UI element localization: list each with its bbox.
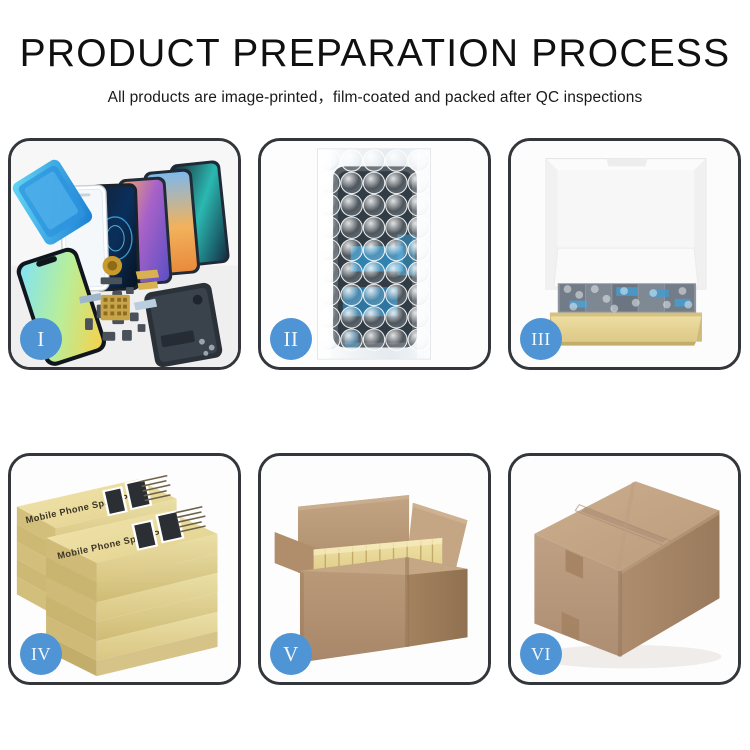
header: PRODUCT PREPARATION PROCESS All products… bbox=[0, 0, 750, 107]
product-preparation-infographic: PRODUCT PREPARATION PROCESS All products… bbox=[0, 0, 750, 750]
step-panel-5: V bbox=[258, 453, 491, 685]
step-badge-1: I bbox=[20, 318, 62, 360]
step-badge-2: II bbox=[270, 318, 312, 360]
step-badge-6: VI bbox=[520, 633, 562, 675]
page-subtitle: All products are image-printed，film-coat… bbox=[0, 85, 750, 107]
step-badge-3: III bbox=[520, 318, 562, 360]
step-badge-5: V bbox=[270, 633, 312, 675]
steps-grid: I bbox=[8, 138, 742, 685]
step-panel-3: III bbox=[508, 138, 741, 370]
step-panel-4: Mobile Phone Spare Parts bbox=[8, 453, 241, 685]
step-panel-6: VI bbox=[508, 453, 741, 685]
step-panel-2: II bbox=[258, 138, 491, 370]
page-title: PRODUCT PREPARATION PROCESS bbox=[0, 34, 750, 75]
step-panel-1: I bbox=[8, 138, 241, 370]
step-badge-4: IV bbox=[20, 633, 62, 675]
